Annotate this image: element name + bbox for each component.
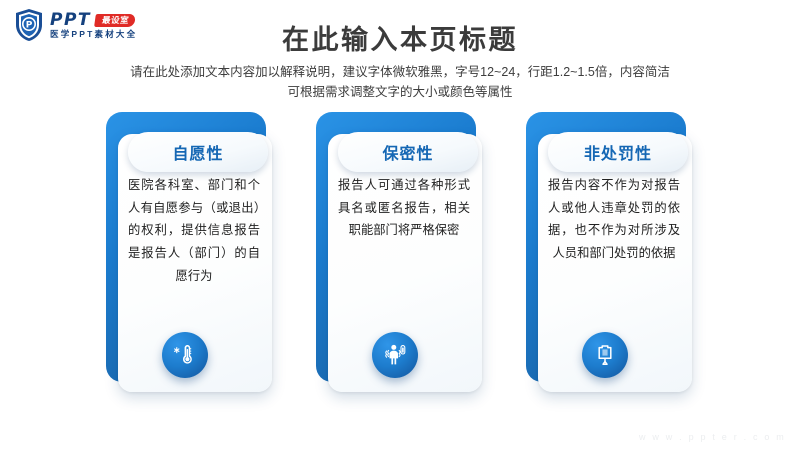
- card-voluntary[interactable]: 自愿性 医院各科室、部门和个人有自愿参与（或退出）的权利，提供信息报告是报告人（…: [106, 112, 274, 400]
- card-title-label: 保密性: [382, 140, 433, 164]
- thermometer-snowflake-icon: [162, 332, 208, 378]
- subtitle-line-1: 请在此处添加文本内容加以解释说明，建议字体微软雅黑，字号12~24，行距1.2~…: [0, 62, 800, 82]
- card-title-label: 非处罚性: [584, 140, 652, 164]
- card-body-text: 医院各科室、部门和个人有自愿参与（或退出）的权利，提供信息报告是报告人（部门）的…: [128, 174, 260, 288]
- shivering-person-icon: [372, 332, 418, 378]
- card-non-punitive[interactable]: 非处罚性 报告内容不作为对报告人或他人违章处罚的依据，也不作为对所涉及人员和部门…: [526, 112, 694, 400]
- card-title-pill: 保密性: [338, 132, 478, 172]
- card-group: 自愿性 医院各科室、部门和个人有自愿参与（或退出）的权利，提供信息报告是报告人（…: [0, 112, 800, 400]
- card-body-text: 报告人可通过各种形式具名或匿名报告，相关职能部门将严格保密: [338, 174, 470, 242]
- page-title: 在此输入本页标题: [0, 18, 800, 57]
- card-title-pill: 自愿性: [128, 132, 268, 172]
- card-title-pill: 非处罚性: [548, 132, 688, 172]
- subtitle-line-2: 可根据需求调整文字的大小或颜色等属性: [0, 82, 800, 102]
- footer-watermark: w w w . p p t e r . c o m: [639, 432, 786, 442]
- card-confidentiality[interactable]: 保密性 报告人可通过各种形式具名或匿名报告，相关职能部门将严格保密: [316, 112, 484, 400]
- card-body-text: 报告内容不作为对报告人或他人违章处罚的依据，也不作为对所涉及人员和部门处罚的依据: [548, 174, 680, 265]
- iv-drip-bag-icon: [582, 332, 628, 378]
- page-subtitle: 请在此处添加文本内容加以解释说明，建议字体微软雅黑，字号12~24，行距1.2~…: [0, 62, 800, 103]
- card-title-label: 自愿性: [172, 140, 223, 164]
